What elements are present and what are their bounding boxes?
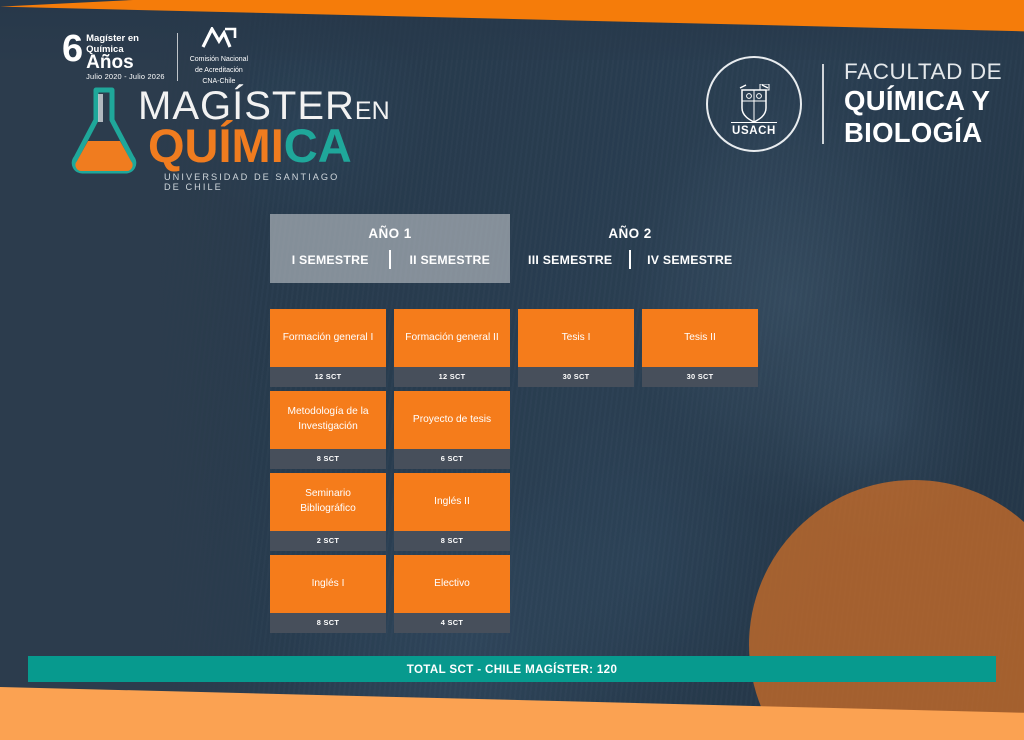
cna-line-2: de Acreditación xyxy=(190,67,248,76)
course-sct: 4 SCT xyxy=(394,613,510,633)
wordmark-en-text: EN xyxy=(355,97,390,125)
year-header-1: AÑO 1 I SEMESTRE II SEMESTRE xyxy=(270,214,510,283)
course-card[interactable]: Seminario Bibliográfico xyxy=(270,473,386,531)
usach-seal-rule xyxy=(731,122,777,124)
year-2-semester-row: III SEMESTRE IV SEMESTRE xyxy=(510,250,750,283)
year-1-semester-row: I SEMESTRE II SEMESTRE xyxy=(270,250,510,283)
course-sct: 12 SCT xyxy=(394,367,510,387)
course-column-ii: Formación general II 12 SCT Proyecto de … xyxy=(394,309,510,637)
cna-chile-logo-icon xyxy=(199,27,239,49)
accreditation-divider xyxy=(177,33,178,81)
accreditation-text-group: Magíster en Química Años Julio 2020 - Ju… xyxy=(86,32,165,81)
course-columns: Formación general I 12 SCT Metodología d… xyxy=(270,309,766,637)
course-column-i: Formación general I 12 SCT Metodología d… xyxy=(270,309,386,637)
accreditation-years-number: 6 xyxy=(62,32,82,67)
course-sct: 8 SCT xyxy=(270,449,386,469)
accreditation-anos-label: Años xyxy=(86,54,165,72)
accreditation-badge: 6 Magíster en Química Años Julio 2020 - … xyxy=(62,27,248,86)
course-card[interactable]: Proyecto de tesis xyxy=(394,391,510,449)
semester-label-1: I SEMESTRE xyxy=(271,253,389,267)
course-sct: 8 SCT xyxy=(394,531,510,551)
course-card[interactable]: Formación general II xyxy=(394,309,510,367)
wordmark-ca-text: CA xyxy=(284,119,352,172)
course-card[interactable]: Tesis II xyxy=(642,309,758,367)
flask-icon xyxy=(66,84,142,176)
course-sct: 8 SCT xyxy=(270,613,386,633)
year-2-title: AÑO 2 xyxy=(510,214,750,250)
semester-label-4: IV SEMESTRE xyxy=(631,253,749,267)
poster-canvas: 6 Magíster en Química Años Julio 2020 - … xyxy=(0,0,1024,740)
year-headers: AÑO 1 I SEMESTRE II SEMESTRE AÑO 2 III S… xyxy=(270,214,766,283)
cna-chile-block: Comisión Nacional de Acreditación CNA-Ch… xyxy=(190,27,248,86)
course-card[interactable]: Metodología de la Investigación xyxy=(270,391,386,449)
course-card[interactable]: Formación general I xyxy=(270,309,386,367)
faculty-line-1: FACULTAD DE xyxy=(844,59,1002,85)
course-sct: 30 SCT xyxy=(642,367,758,387)
accreditation-years-group: 6 Magíster en Química Años Julio 2020 - … xyxy=(62,32,165,81)
faculty-title-group: FACULTAD DE QUÍMICA Y BIOLOGÍA xyxy=(844,59,1002,149)
course-sct: 6 SCT xyxy=(394,449,510,469)
course-card[interactable]: Inglés I xyxy=(270,555,386,613)
course-sct: 12 SCT xyxy=(270,367,386,387)
faculty-branding: USACH FACULTAD DE QUÍMICA Y BIOLOGÍA xyxy=(706,56,1002,152)
wordmark-quimica: QUÍMICA xyxy=(148,122,352,169)
faculty-line-2: QUÍMICA Y xyxy=(844,85,1002,117)
usach-seal-label: USACH xyxy=(732,125,776,137)
course-card[interactable]: Inglés II xyxy=(394,473,510,531)
course-sct: 30 SCT xyxy=(518,367,634,387)
semester-label-2: II SEMESTRE xyxy=(391,253,509,267)
semester-label-3: III SEMESTRE xyxy=(511,253,629,267)
wordmark-university-subtitle: UNIVERSIDAD DE SANTIAGO DE CHILE xyxy=(164,172,356,192)
faculty-divider xyxy=(822,64,824,144)
total-sct-bar: TOTAL SCT - CHILE MAGÍSTER: 120 xyxy=(28,656,996,682)
usach-seal: USACH xyxy=(706,56,802,152)
course-column-iv: Tesis II 30 SCT xyxy=(642,309,758,637)
cna-line-1: Comisión Nacional xyxy=(190,56,248,65)
curriculum-grid: AÑO 1 I SEMESTRE II SEMESTRE AÑO 2 III S… xyxy=(270,214,766,637)
course-card[interactable]: Tesis I xyxy=(518,309,634,367)
program-wordmark: MAGÍSTEREN QUÍMICA UNIVERSIDAD DE SANTIA… xyxy=(66,82,356,182)
year-1-title: AÑO 1 xyxy=(270,214,510,250)
year-header-2: AÑO 2 III SEMESTRE IV SEMESTRE xyxy=(510,214,750,283)
course-card[interactable]: Electivo xyxy=(394,555,510,613)
accreditation-date-range: Julio 2020 - Julio 2026 xyxy=(86,73,165,81)
course-sct: 2 SCT xyxy=(270,531,386,551)
course-column-iii: Tesis I 30 SCT xyxy=(518,309,634,637)
usach-shield-icon xyxy=(730,84,778,126)
wordmark-quimi-text: QUÍMI xyxy=(148,119,284,172)
faculty-line-3: BIOLOGÍA xyxy=(844,117,1002,149)
